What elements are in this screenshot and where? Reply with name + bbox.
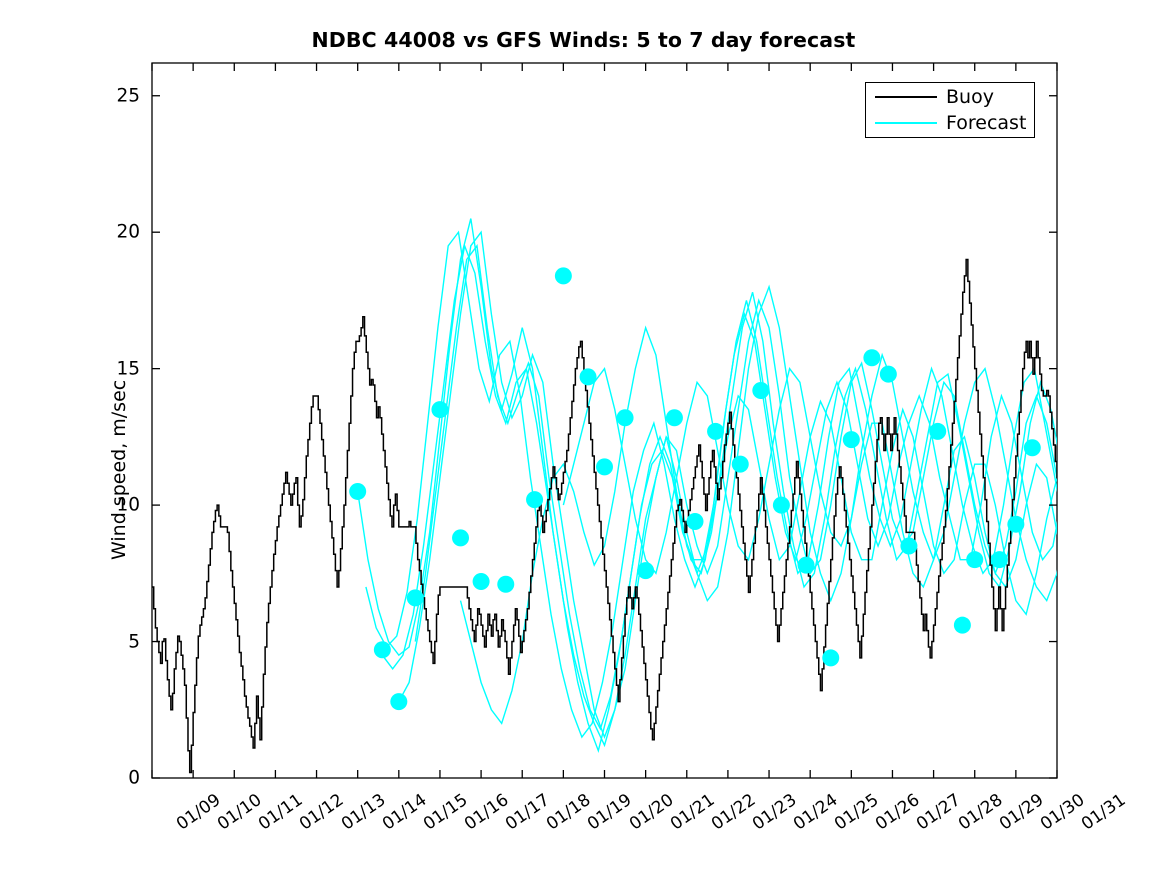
y-tick-label: 0 [94,768,140,789]
scatter-marker [687,513,704,530]
scatter-marker [526,491,543,508]
legend-item-forecast[interactable]: Forecast [866,109,1036,137]
scatter-marker [752,382,769,399]
scatter-marker [880,366,897,383]
scatter-marker [863,349,880,366]
scatter-marker [798,557,815,574]
scatter-marker [900,538,917,555]
scatter-marker [954,617,971,634]
y-tick-label: 10 [94,495,140,516]
chart-figure: NDBC 44008 vs GFS Winds: 5 to 7 day fore… [0,0,1167,875]
scatter-marker [966,551,983,568]
scatter-marker [374,641,391,658]
scatter-marker [580,368,597,385]
scatter-marker [843,431,860,448]
scatter-marker [1024,439,1041,456]
legend-label-forecast: Forecast [946,109,1026,137]
legend[interactable]: Buoy Forecast [865,82,1035,138]
scatter-marker [707,423,724,440]
y-tick-label: 25 [94,85,140,106]
legend-swatch-forecast [875,122,937,124]
scatter-marker [991,551,1008,568]
scatter-marker [596,458,613,475]
scatter-marker [390,693,407,710]
scatter-marker [349,483,366,500]
scatter-marker [637,562,654,579]
scatter-marker [407,589,424,606]
scatter-marker [497,576,514,593]
scatter-marker [822,649,839,666]
scatter-marker [431,401,448,418]
scatter-marker [929,423,946,440]
scatter-marker [773,497,790,514]
scatter-marker [732,456,749,473]
legend-label-buoy: Buoy [946,83,994,111]
scatter-marker [1007,516,1024,533]
legend-swatch-buoy [875,96,937,98]
scatter-marker [473,573,490,590]
y-tick-label: 5 [94,631,140,652]
y-tick-label: 15 [94,358,140,379]
scatter-marker [555,267,572,284]
scatter-marker [452,529,469,546]
forecast-trace [382,246,1167,751]
forecast-trace [366,232,1167,737]
scatter-marker [666,409,683,426]
y-tick-label: 20 [94,222,140,243]
scatter-marker [617,409,634,426]
legend-item-buoy[interactable]: Buoy [866,83,1036,111]
